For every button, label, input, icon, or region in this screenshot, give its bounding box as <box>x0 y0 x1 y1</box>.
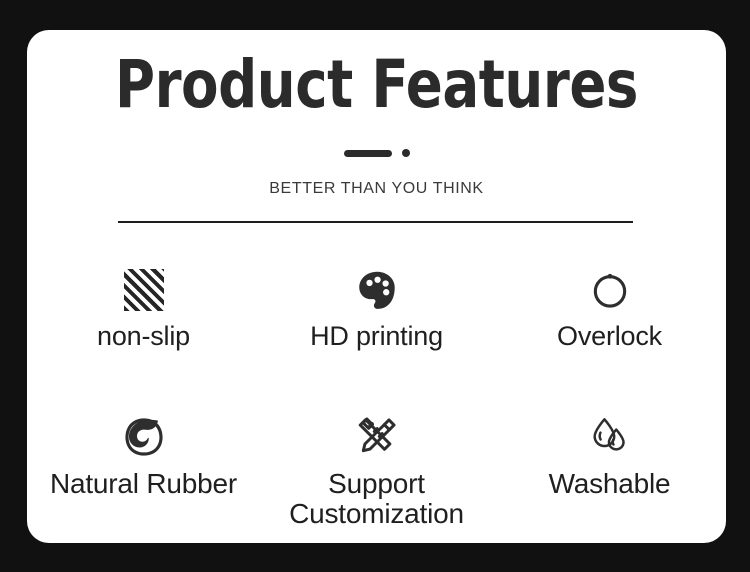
feature-item-support-customization: Support Customization <box>260 397 493 543</box>
feature-grid: non-slip HD printing <box>27 252 726 543</box>
feature-label: Washable <box>549 469 671 499</box>
feature-item-non-slip: non-slip <box>27 252 260 397</box>
feature-card: Product Features BETTER THAN YOU THINK n… <box>27 30 726 543</box>
paint-palette-icon <box>354 264 400 316</box>
feature-item-overlock: Overlock <box>493 252 726 397</box>
stitch-ring-icon <box>588 264 632 316</box>
feature-item-hd-printing: HD printing <box>260 252 493 397</box>
feature-item-washable: Washable <box>493 397 726 543</box>
poster-stage: Product Features BETTER THAN YOU THINK n… <box>0 0 750 572</box>
hatched-square-icon <box>124 264 164 316</box>
water-drops-icon <box>587 411 633 463</box>
feature-label: HD printing <box>310 322 443 351</box>
divider-dot <box>402 149 410 157</box>
dash-dot-divider <box>27 143 726 163</box>
rubber-leaf-icon <box>121 411 167 463</box>
horizontal-rule <box>118 221 633 223</box>
pencil-ruler-icon <box>354 411 400 463</box>
feature-item-natural-rubber: Natural Rubber <box>27 397 260 543</box>
feature-label: Natural Rubber <box>50 469 237 499</box>
feature-label: Overlock <box>557 322 662 351</box>
page-subtitle: BETTER THAN YOU THINK <box>27 180 726 198</box>
feature-row: non-slip HD printing <box>27 252 726 397</box>
feature-label: Support Customization <box>289 469 464 529</box>
feature-label: non-slip <box>97 322 190 351</box>
feature-row: Natural Rubber <box>27 397 726 543</box>
divider-dash <box>344 150 392 157</box>
page-title: Product Features <box>55 52 698 118</box>
